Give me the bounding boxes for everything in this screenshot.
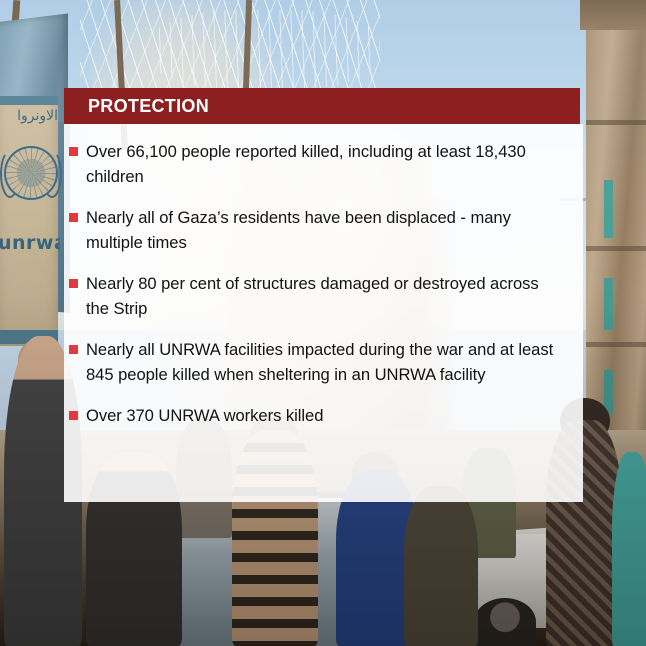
crowd-person-7 xyxy=(612,452,646,646)
protection-info-card: PROTECTION Over 66,100 people reported k… xyxy=(64,88,583,502)
teal-window-1 xyxy=(604,180,613,238)
crowd-person-5 xyxy=(404,486,478,646)
signboard-arabic-text: الاونروا xyxy=(2,108,58,130)
signboard-top-trim xyxy=(0,96,58,105)
building-floor-slab-1 xyxy=(586,120,646,125)
bullet-text: Nearly 80 per cent of structures damaged… xyxy=(86,272,565,321)
list-item: Nearly 80 per cent of structures damaged… xyxy=(69,272,565,321)
bullet-text: Nearly all of Gaza’s residents have been… xyxy=(86,206,565,255)
list-item: Nearly all of Gaza’s residents have been… xyxy=(69,206,565,255)
unrwa-signboard xyxy=(0,96,58,346)
card-title: PROTECTION xyxy=(88,96,209,117)
teal-window-2 xyxy=(604,278,613,330)
bullet-square-icon xyxy=(69,147,78,156)
building-floor-slab-2 xyxy=(586,246,646,251)
bullet-square-icon xyxy=(69,213,78,222)
bullet-square-icon xyxy=(69,411,78,420)
razor-wire-coil xyxy=(150,10,380,90)
building-floor-slab-3 xyxy=(586,342,646,347)
bullet-text: Over 370 UNRWA workers killed xyxy=(86,404,565,429)
card-body: Over 66,100 people reported killed, incl… xyxy=(64,124,583,502)
list-item: Nearly all UNRWA facilities impacted dur… xyxy=(69,338,565,387)
damaged-building-roof xyxy=(580,0,646,30)
bullet-square-icon xyxy=(69,345,78,354)
bullet-square-icon xyxy=(69,279,78,288)
signboard-latin-text: unrwa xyxy=(0,232,60,254)
list-item: Over 66,100 people reported killed, incl… xyxy=(69,140,565,189)
bullet-text: Nearly all UNRWA facilities impacted dur… xyxy=(86,338,565,387)
un-emblem-icon xyxy=(4,146,58,200)
bullet-text: Over 66,100 people reported killed, incl… xyxy=(86,140,565,189)
list-item: Over 370 UNRWA workers killed xyxy=(69,404,565,429)
damaged-building-right xyxy=(586,0,646,466)
screenshot-stage: الاونروا unrwa xyxy=(0,0,646,646)
car-wheel xyxy=(474,598,536,646)
card-header: PROTECTION xyxy=(64,88,580,124)
